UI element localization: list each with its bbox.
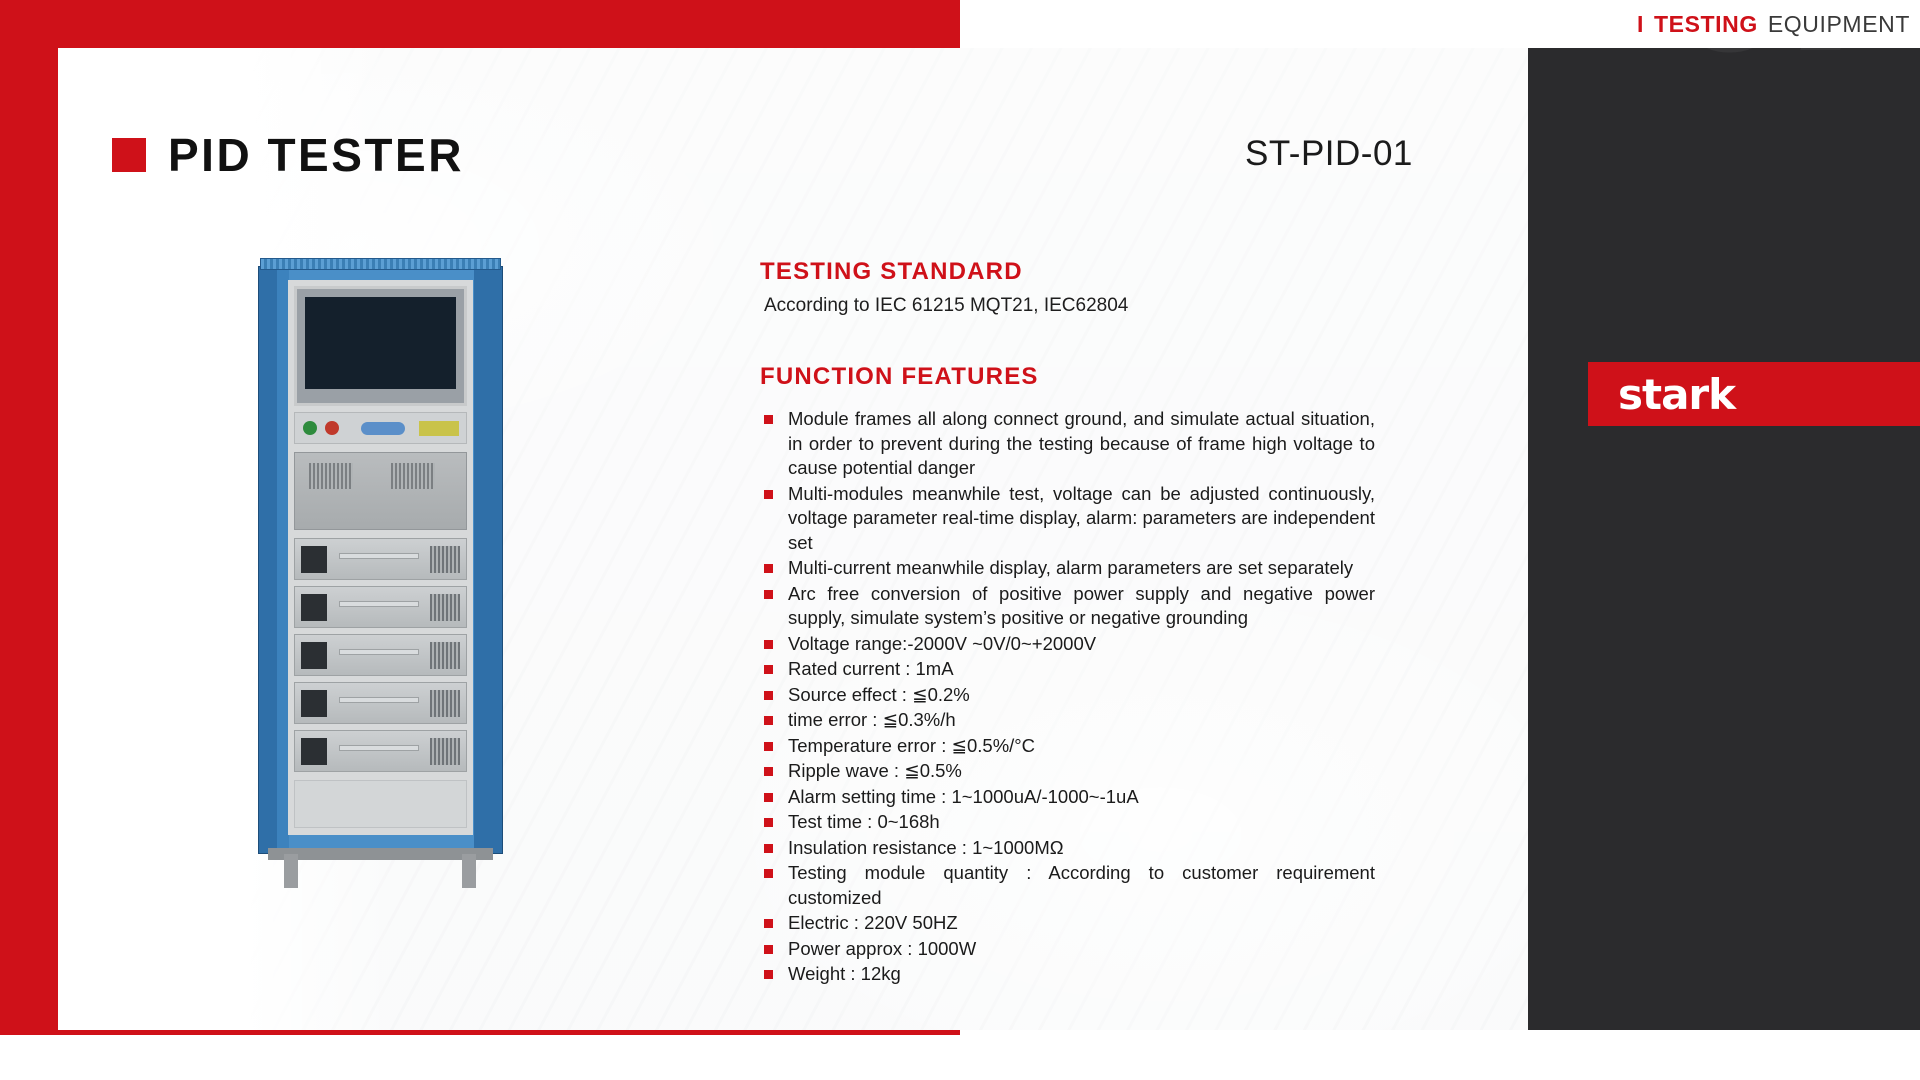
list-item: Voltage range:-2000V ~0V/0~+2000V: [760, 632, 1375, 657]
module-vent-4: [430, 690, 460, 717]
list-item: Ripple wave : ≦0.5%: [760, 759, 1375, 784]
module-display-1: [301, 546, 327, 573]
amplifier-module-1: [294, 538, 467, 580]
module-vent-2: [430, 594, 460, 621]
red-led-icon: [325, 421, 339, 435]
rack-foot-left: [284, 854, 298, 888]
control-knob: [361, 422, 405, 435]
header-title: I TESTING EQUIPMENT: [1637, 0, 1910, 48]
blank-panel: [294, 780, 467, 828]
brand-logo-text: stark: [1618, 370, 1735, 419]
top-red-band: [0, 0, 960, 48]
rack-top-vent: [260, 258, 501, 270]
list-item: Testing module quantity : According to c…: [760, 861, 1375, 910]
testing-standard-heading: TESTING STANDARD: [760, 258, 1380, 286]
watermark-dark-text: stark: [1608, 48, 1878, 68]
list-item: Multi-current meanwhile display, alarm p…: [760, 556, 1375, 581]
module-bar-3: [339, 649, 419, 655]
rack-base: [268, 848, 493, 860]
amplifier-module-4: [294, 682, 467, 724]
control-strip: [294, 412, 467, 444]
right-dark-panel: stark: [1528, 48, 1920, 1030]
module-bar-4: [339, 697, 419, 703]
module-display-5: [301, 738, 327, 765]
function-features-list: Module frames all along connect ground, …: [760, 407, 1375, 987]
module-vent-5: [430, 738, 460, 765]
module-display-2: [301, 594, 327, 621]
list-item: time error : ≦0.3%/h: [760, 708, 1375, 733]
module-vent-3: [430, 642, 460, 669]
testing-standard-text: According to IEC 61215 MQT21, IEC62804: [764, 295, 1380, 317]
module-vent-1: [430, 546, 460, 573]
product-image: [258, 258, 508, 898]
monitor: [294, 286, 467, 406]
list-item: Rated current : 1mA: [760, 657, 1375, 682]
list-item: Module frames all along connect ground, …: [760, 407, 1375, 481]
module-display-4: [301, 690, 327, 717]
list-item: Power approx : 1000W: [760, 937, 1375, 962]
spec-column: TESTING STANDARD According to IEC 61215 …: [760, 258, 1380, 988]
industrial-pc-unit: [294, 452, 467, 530]
function-features-heading: FUNCTION FEATURES: [760, 363, 1380, 391]
top-red-diagonal: [900, 0, 960, 48]
monitor-screen: [305, 297, 456, 389]
page-title: PID TESTER: [112, 128, 464, 182]
product-model-code: ST-PID-01: [1245, 134, 1413, 174]
green-led-icon: [303, 421, 317, 435]
list-item: Source effect : ≦0.2%: [760, 683, 1375, 708]
module-bar-5: [339, 745, 419, 751]
list-item: Arc free conversion of positive power su…: [760, 582, 1375, 631]
module-bar-1: [339, 553, 419, 559]
module-display-3: [301, 642, 327, 669]
list-item: Test time : 0~168h: [760, 810, 1375, 835]
list-item: Multi-modules meanwhile test, voltage ca…: [760, 482, 1375, 556]
title-square-icon: [112, 138, 146, 172]
list-item: Weight : 12kg: [760, 962, 1375, 987]
product-title: PID TESTER: [168, 128, 464, 182]
rack-inner-panel: [288, 280, 473, 835]
header-title-light: EQUIPMENT: [1768, 11, 1910, 38]
amplifier-module-5: [294, 730, 467, 772]
vent-left: [309, 463, 353, 489]
module-bar-2: [339, 601, 419, 607]
rack-foot-right: [462, 854, 476, 888]
amplifier-module-2: [294, 586, 467, 628]
amplifier-module-3: [294, 634, 467, 676]
list-item: Alarm setting time : 1~1000uA/-1000~-1uA: [760, 785, 1375, 810]
header-bar-glyph: I: [1637, 11, 1644, 38]
list-item: Electric : 220V 50HZ: [760, 911, 1375, 936]
list-item: Temperature error : ≦0.5%/°C: [760, 734, 1375, 759]
brand-logo-bar: stark: [1588, 362, 1920, 426]
list-item: Insulation resistance : 1~1000MΩ: [760, 836, 1375, 861]
mini-display: [419, 421, 459, 436]
left-red-band: [0, 0, 58, 1035]
header-title-strong: TESTING: [1654, 11, 1758, 38]
vent-right: [391, 463, 435, 489]
